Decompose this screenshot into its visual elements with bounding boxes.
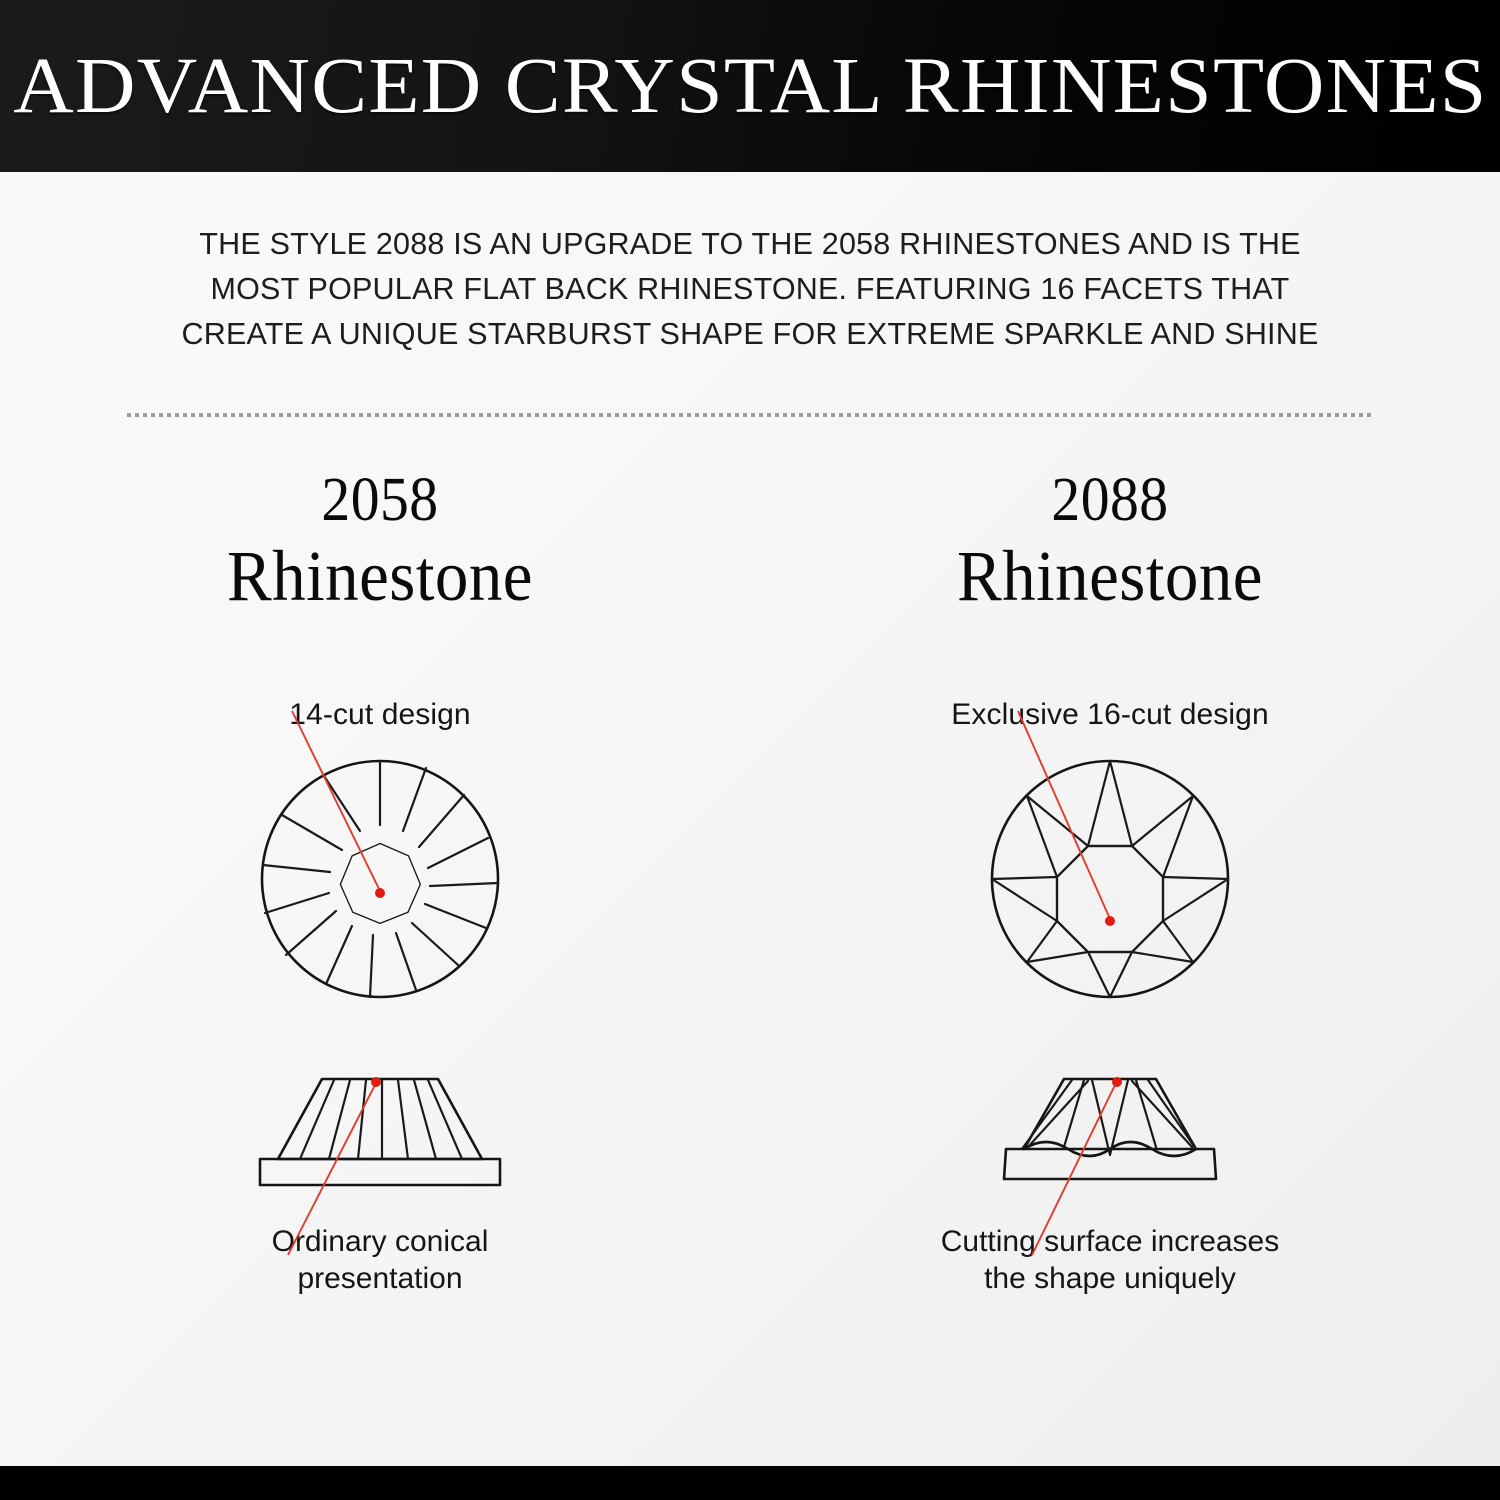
starburst-points bbox=[992, 761, 1228, 997]
caption-ordinary-conical: Ordinary conical presentation bbox=[60, 1223, 700, 1297]
leader-endpoint-dot bbox=[375, 888, 385, 898]
column-title-2058: 2058 Rhinestone bbox=[60, 470, 700, 611]
callout-label-16-cut: Exclusive 16-cut design bbox=[790, 697, 1430, 733]
leader-endpoint-dot bbox=[1112, 1077, 1122, 1087]
intro-block: THE STYLE 2088 IS AN UPGRADE TO THE 2058… bbox=[110, 222, 1390, 357]
leader-endpoint-dot bbox=[1105, 916, 1115, 926]
16-cut-starburst-top-view-diagram bbox=[790, 743, 1430, 1005]
faceted-dome-body bbox=[1024, 1079, 1196, 1156]
cone-facet-lines bbox=[300, 1080, 462, 1159]
14-cut-top-view-diagram bbox=[60, 743, 700, 1005]
dotted-divider bbox=[127, 413, 1375, 417]
starburst-side-view-diagram bbox=[790, 1063, 1430, 1203]
conical-side-view-diagram bbox=[60, 1063, 700, 1203]
footer-bar bbox=[0, 1466, 1500, 1500]
column-title-2088: 2088 Rhinestone bbox=[790, 470, 1430, 611]
header-banner: ADVANCED CRYSTAL RHINESTONES bbox=[0, 0, 1500, 172]
column-title-number: 2088 bbox=[812, 470, 1407, 531]
caption-cutting-surface: Cutting surface increases the shape uniq… bbox=[790, 1223, 1430, 1297]
column-title-word: Rhinestone bbox=[812, 541, 1407, 612]
base-slab bbox=[260, 1159, 500, 1185]
leader-line-16-cut bbox=[1018, 711, 1115, 926]
callout-label-14-cut: 14-cut design bbox=[60, 697, 700, 733]
comparison-column-2058: 2058 Rhinestone 14-cut design bbox=[60, 470, 700, 1297]
comparison-column-2088: 2088 Rhinestone Exclusive 16-cut design bbox=[790, 470, 1430, 1297]
inner-table-polygon bbox=[340, 844, 420, 924]
cone-body bbox=[278, 1079, 482, 1159]
infographic-page: ADVANCED CRYSTAL RHINESTONES THE STYLE 2… bbox=[0, 0, 1500, 1500]
intro-description: THE STYLE 2088 IS AN UPGRADE TO THE 2058… bbox=[110, 222, 1390, 357]
dome-facet-lines bbox=[1022, 1080, 1196, 1155]
column-title-word: Rhinestone bbox=[82, 541, 677, 612]
column-title-number: 2058 bbox=[82, 470, 677, 531]
page-title: ADVANCED CRYSTAL RHINESTONES bbox=[13, 47, 1487, 126]
leader-endpoint-dot bbox=[371, 1077, 381, 1087]
